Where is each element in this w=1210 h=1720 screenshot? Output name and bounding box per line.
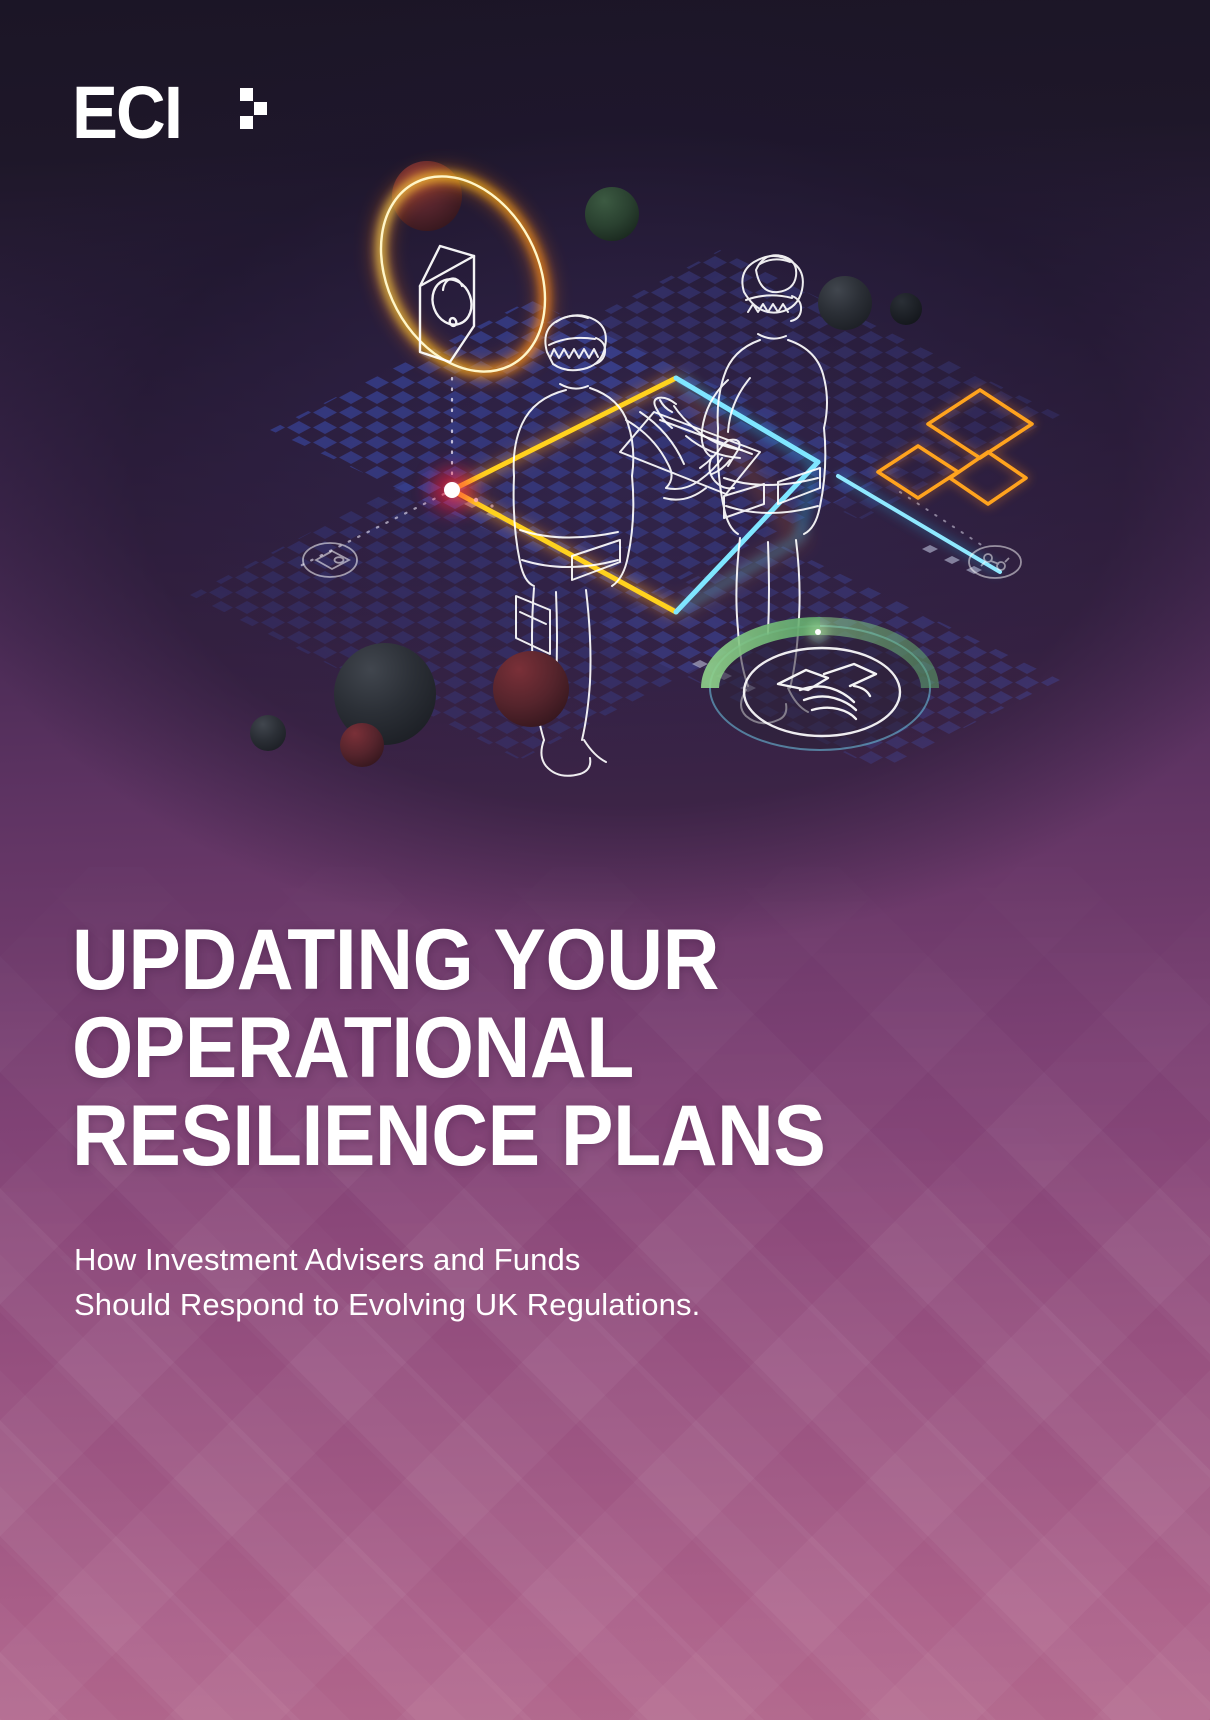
sphere-maroon-mid xyxy=(493,651,569,727)
title-line-1: UPDATING YOUR xyxy=(72,916,987,1004)
logo-pixel-3 xyxy=(240,116,253,129)
sphere-green-top xyxy=(585,187,639,241)
handshake-gauge-icon xyxy=(710,622,930,750)
logo-pixel-1 xyxy=(240,88,253,101)
logo-wordmark: ECI xyxy=(72,76,181,150)
subtitle-line-2: Should Respond to Evolving UK Regulation… xyxy=(74,1282,894,1327)
title-line-3: RESILIENCE PLANS xyxy=(72,1092,987,1180)
eci-logo[interactable]: ECI xyxy=(72,74,332,154)
sphere-dark-small xyxy=(250,715,286,751)
report-cover-page: ECI UPDATING YOUR OPERATIONAL RESILIENCE… xyxy=(0,0,1210,1720)
cyan-streak xyxy=(838,476,1000,572)
sphere-dark-right xyxy=(818,276,872,330)
subtitle-line-1: How Investment Advisers and Funds xyxy=(74,1237,894,1282)
title-line-2: OPERATIONAL xyxy=(72,1004,987,1092)
page-title: UPDATING YOUR OPERATIONAL RESILIENCE PLA… xyxy=(72,916,1072,1180)
page-subtitle: How Investment Advisers and Funds Should… xyxy=(74,1237,894,1327)
logo-pixel-2 xyxy=(254,102,267,115)
sphere-maroon-small xyxy=(340,723,384,767)
sphere-black-right xyxy=(890,293,922,325)
